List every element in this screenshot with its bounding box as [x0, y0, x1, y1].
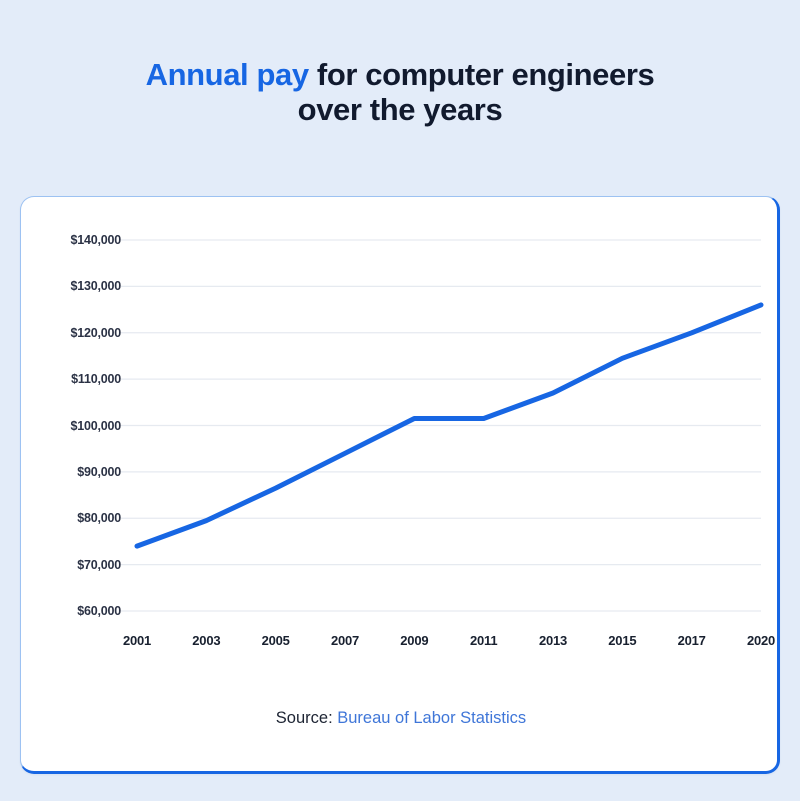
y-axis-tick-label: $70,000	[29, 558, 121, 572]
x-axis-tick-label: 2005	[262, 633, 290, 648]
x-axis-tick-label: 2015	[608, 633, 636, 648]
x-axis-tick-label: 2009	[400, 633, 428, 648]
y-axis-tick-label: $110,000	[29, 372, 121, 386]
source-link[interactable]: Bureau of Labor Statistics	[337, 709, 526, 727]
title-rest-text: for computer engineers	[309, 57, 655, 92]
title-line-1: Annual pay for computer engineers	[0, 58, 800, 93]
page-title: Annual pay for computer engineers over t…	[0, 58, 800, 127]
x-axis-tick-label: 2007	[331, 633, 359, 648]
y-axis-tick-label: $90,000	[29, 465, 121, 479]
x-axis-tick-label: 2017	[678, 633, 706, 648]
source-prefix: Source:	[276, 709, 337, 727]
chart-card: $140,000$130,000$120,000$110,000$100,000…	[20, 196, 780, 774]
title-line-2: over the years	[0, 93, 800, 128]
y-axis-tick-label: $80,000	[29, 511, 121, 525]
y-axis-tick-label: $60,000	[29, 604, 121, 618]
y-axis-tick-label: $130,000	[29, 279, 121, 293]
source-note: Source: Bureau of Labor Statistics	[21, 709, 781, 728]
x-axis-tick-label: 2003	[192, 633, 220, 648]
title-accent-text: Annual pay	[146, 57, 309, 92]
y-axis-tick-label: $120,000	[29, 326, 121, 340]
page-root: Annual pay for computer engineers over t…	[0, 0, 800, 801]
x-axis-tick-label: 2011	[470, 633, 497, 648]
chart-gridlines	[121, 240, 761, 611]
chart-plot-area: $140,000$130,000$120,000$110,000$100,000…	[21, 197, 781, 775]
y-axis-tick-label: $140,000	[29, 233, 121, 247]
x-axis-tick-label: 2013	[539, 633, 567, 648]
line-chart	[21, 197, 781, 775]
y-axis-tick-label: $100,000	[29, 419, 121, 433]
x-axis-tick-label: 2020	[747, 633, 775, 648]
x-axis-tick-label: 2001	[123, 633, 151, 648]
